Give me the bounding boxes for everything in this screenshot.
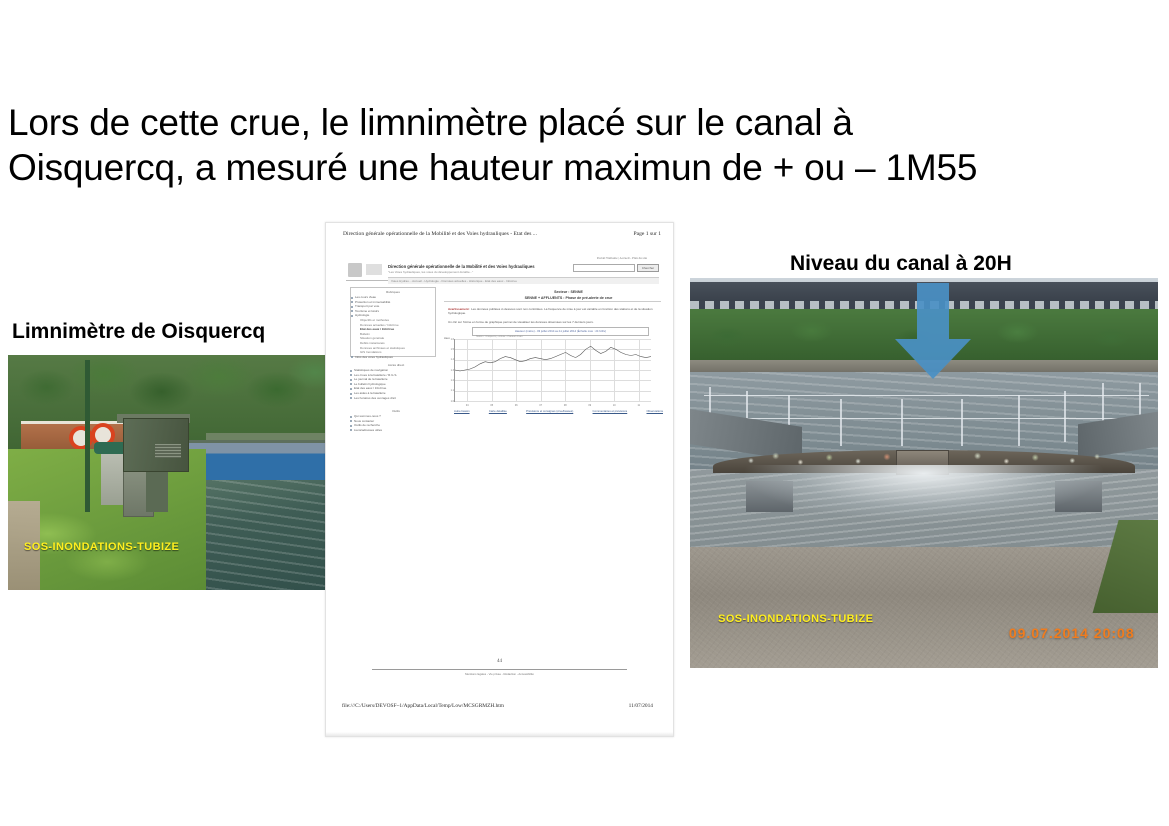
scan-sector-block: Secteur : SENNE SENNE + AFFLUENTS : Phas… bbox=[476, 289, 661, 301]
sidebar-item[interactable]: Infos des voies hydrauliques bbox=[351, 355, 435, 360]
scan-print-date: 11/07/2014 bbox=[629, 703, 653, 709]
chart-y-tick: 1.0 bbox=[445, 400, 454, 403]
scan-link[interactable]: Commentaires et prévisions bbox=[593, 409, 628, 413]
chart-x-tick: 04 bbox=[466, 404, 469, 407]
scan-link[interactable]: Autre bassin bbox=[454, 409, 470, 413]
watermark-sos-inondations: SOS-INONDATIONS-TUBIZE bbox=[718, 613, 873, 625]
photo-railing-rail bbox=[704, 418, 1149, 419]
photo-limnimetre-oisquercq: SOS-INONDATIONS-TUBIZE bbox=[8, 355, 328, 590]
watermark-sos-inondations: SOS-INONDATIONS-TUBIZE bbox=[24, 541, 179, 553]
photo-niveau-canal: SOS-INONDATIONS-TUBIZE 09.07.2014 20:08 bbox=[690, 278, 1158, 668]
service-logo-icon bbox=[366, 264, 382, 275]
chart-x-tick: 10 bbox=[613, 404, 616, 407]
scan-footer-divider bbox=[372, 669, 627, 670]
photo-cabinet-vent bbox=[155, 444, 181, 458]
photo-railing-post bbox=[1018, 395, 1020, 446]
photo-concrete-apron bbox=[690, 547, 1158, 668]
photo-green-pole bbox=[85, 360, 90, 513]
presentation-slide: Lors de cette crue, le limnimètre placé … bbox=[0, 0, 1169, 826]
chart-x-tick: 09 bbox=[588, 404, 591, 407]
scan-portal-links: Portail Wallonie | Accueil - Plan du sit… bbox=[597, 256, 647, 260]
photo-railing-post bbox=[840, 399, 842, 446]
scan-page-number: 44 bbox=[326, 659, 673, 664]
chart-x-tick: 05 bbox=[490, 404, 493, 407]
scanned-printout: Direction générale opérationnelle de la … bbox=[325, 222, 674, 737]
caption-niveau-canal: Niveau du canal à 20H bbox=[790, 252, 1012, 276]
scan-sidebar-direct-access: Accès direct Statistiques de navigation … bbox=[350, 361, 442, 400]
chart-y-tick: 1.2 bbox=[445, 379, 454, 382]
chart-plot-area: 1.01.11.21.31.41.51.60405060708091011 bbox=[454, 339, 651, 402]
scan-divider bbox=[444, 301, 661, 302]
scan-link[interactable]: Observations bbox=[647, 409, 663, 413]
chart-x-tick: 11 bbox=[638, 404, 640, 407]
scan-search-input[interactable] bbox=[573, 264, 635, 272]
scan-chart-subtitle: Station : Oisquercq - écluse - Hauteur d… bbox=[476, 335, 522, 338]
scan-warning-text: Avertissement : Les données publiées ci-… bbox=[448, 307, 661, 316]
chart-y-tick: 1.1 bbox=[445, 389, 454, 392]
wallonia-logo-icon bbox=[348, 263, 362, 277]
chart-y-tick: 1.6 bbox=[445, 338, 454, 341]
photo-railing-post bbox=[961, 399, 963, 446]
photo-timestamp: 09.07.2014 20:08 bbox=[1009, 625, 1135, 641]
scan-browser-header: Direction générale opérationnelle de la … bbox=[343, 231, 663, 237]
scan-paper-edge bbox=[326, 732, 673, 736]
scan-page-indicator: Page 1 sur 1 bbox=[634, 231, 662, 237]
scan-sidebar3-header: Outils bbox=[350, 409, 442, 413]
sidebar-item[interactable]: Les horaires des ouvrages d'art bbox=[350, 396, 442, 401]
scan-sidebar: Rubriques Les cours d'eau Protection et … bbox=[350, 287, 436, 357]
scan-warning-body: : Les données publiées ci-dessous sont n… bbox=[448, 307, 653, 315]
chart-x-tick: 07 bbox=[539, 404, 542, 407]
scan-site-title: Direction générale opérationnelle de la … bbox=[388, 264, 535, 269]
chart-series-line bbox=[455, 339, 651, 401]
chart-x-tick: 08 bbox=[564, 404, 567, 407]
photo-railing-rail bbox=[704, 395, 1149, 396]
page-title: Lors de cette crue, le limnimètre placé … bbox=[8, 100, 1163, 190]
photo-railing-post bbox=[1064, 391, 1066, 442]
scan-nav-bar[interactable]: Voies Hydrau. - Accueil - Hydrologie - D… bbox=[388, 277, 659, 284]
photo-railing-post bbox=[901, 399, 903, 446]
chart-x-tick: 06 bbox=[515, 404, 518, 407]
scan-warning-label: Avertissement bbox=[448, 307, 469, 311]
scan-sidebar-tools: Outils Qui sommes-nous ? Nous contacter … bbox=[350, 407, 442, 432]
chart-y-tick: 1.3 bbox=[445, 369, 454, 372]
photo-white-water-foam bbox=[737, 465, 1111, 551]
scan-sidebar2-header: Accès direct bbox=[350, 363, 442, 367]
scan-file-path: file:///C:/Users/DEVOSF~1/AppData/Local/… bbox=[342, 703, 504, 709]
scan-note-text: Un clic sur l'icône en forme de graphiqu… bbox=[448, 320, 661, 324]
sidebar-item[interactable]: Liens/adresses utiles bbox=[350, 428, 442, 433]
scan-link[interactable]: Carte détaillée bbox=[489, 409, 507, 413]
scan-sidebar-header: Rubriques bbox=[351, 290, 435, 294]
chart-y-tick: 1.4 bbox=[445, 358, 454, 361]
scan-search-button[interactable]: Chercher bbox=[637, 264, 659, 272]
scan-footer-links[interactable]: Mentions légales - Vie privée - Rédactio… bbox=[326, 672, 673, 676]
scan-site-subtitle: "Les Voies hydrauliques, les voies du dé… bbox=[388, 270, 473, 274]
down-arrow-icon bbox=[891, 283, 975, 379]
caption-limnimetre: Limnimètre de Oisquercq bbox=[12, 320, 265, 344]
scan-link-row: Autre bassin Carte détaillée Prévisions … bbox=[454, 409, 663, 413]
scan-link[interactable]: Prévisions et consignes (crue/basses) bbox=[526, 409, 573, 413]
chart-y-tick: 1.5 bbox=[445, 348, 454, 351]
chart-gridline-horizontal bbox=[455, 401, 651, 402]
